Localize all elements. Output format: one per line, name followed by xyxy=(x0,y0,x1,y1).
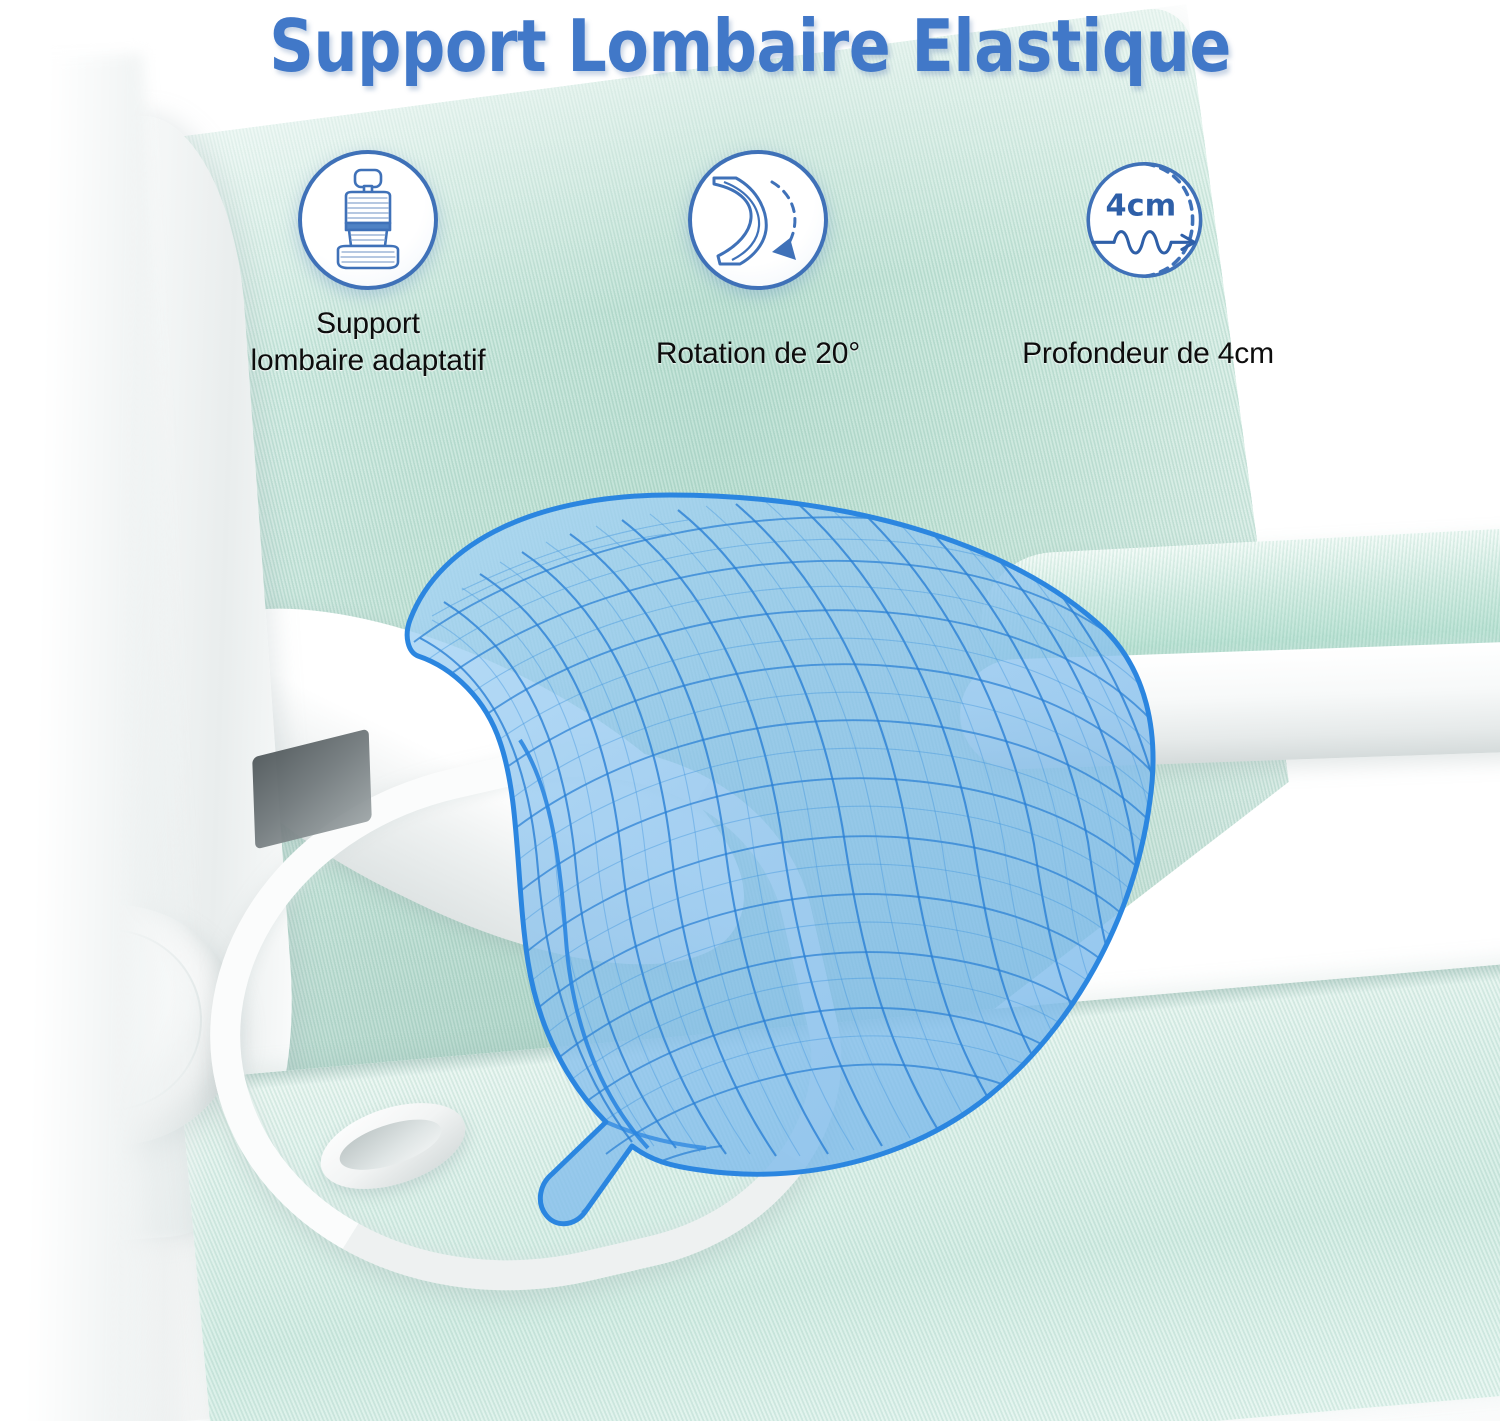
depth-value-label: 4cm xyxy=(1106,189,1177,224)
feature-adaptive-lumbar-support: Support lombaire adaptatif xyxy=(198,150,538,379)
feature-rotation: Rotation de 20° xyxy=(588,150,928,373)
feature-row: Support lombaire adaptatif Rotation de 2… xyxy=(0,150,1500,400)
rotation-arc-icon xyxy=(688,150,828,290)
feature-depth: 4cm Profondeur de 4cm xyxy=(978,150,1318,373)
feature-caption: Support lombaire adaptatif xyxy=(251,306,486,379)
lumbar-wireframe-overlay xyxy=(370,470,1170,1260)
feature-caption: Rotation de 20° xyxy=(656,336,860,373)
chair-seat-icon xyxy=(298,150,438,290)
depth-spring-icon: 4cm xyxy=(1078,150,1218,290)
feature-caption: Profondeur de 4cm xyxy=(1022,336,1274,373)
product-feature-image: Support Lombaire Elastique xyxy=(0,0,1500,1421)
